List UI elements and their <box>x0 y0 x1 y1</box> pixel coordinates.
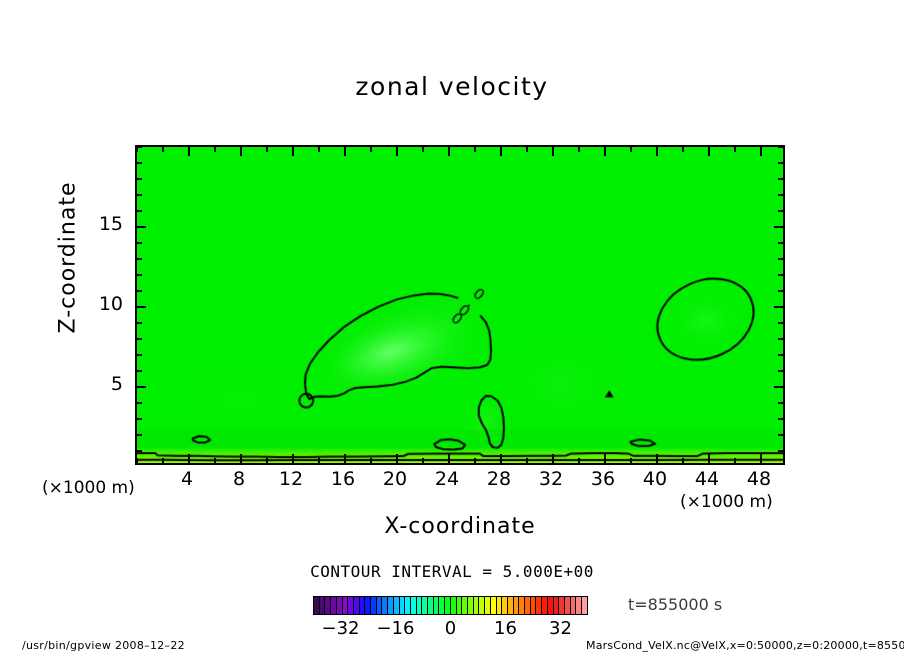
x-tick-top <box>682 147 684 152</box>
y-tick-right <box>778 418 783 420</box>
colorbar-tick-label: 16 <box>476 618 536 639</box>
x-tick <box>344 454 346 463</box>
x-tick <box>188 454 190 463</box>
x-tick <box>760 454 762 463</box>
x-tick <box>474 458 476 463</box>
y-tick <box>137 386 146 388</box>
x-tick <box>240 454 242 463</box>
x-tick-top <box>422 147 424 152</box>
x-axis-title: X-coordinate <box>135 514 785 539</box>
colorbar-swatch-47 <box>582 597 587 614</box>
x-tick-label: 28 <box>469 468 529 490</box>
x-tick-top <box>214 147 216 152</box>
x-tick <box>526 458 528 463</box>
x-tick-label: 24 <box>417 468 477 490</box>
x-tick-top <box>318 147 320 152</box>
x-tick <box>396 454 398 463</box>
x-tick <box>422 458 424 463</box>
y-axis-title: Z-coordinate <box>56 128 81 388</box>
y-tick-right <box>778 322 783 324</box>
x-tick-top <box>474 147 476 152</box>
x-tick <box>578 458 580 463</box>
x-tick <box>448 454 450 463</box>
x-tick-top <box>188 147 190 156</box>
y-tick <box>137 338 142 340</box>
y-tick <box>137 194 142 196</box>
colorbar-tick-label: −16 <box>366 618 426 639</box>
x-tick-top <box>266 147 268 152</box>
y-tick <box>137 162 142 164</box>
x-tick-label: 20 <box>365 468 425 490</box>
x-tick-label: 48 <box>729 468 789 490</box>
y-tick-right <box>774 226 783 228</box>
x-tick-top <box>734 147 736 152</box>
x-tick <box>656 454 658 463</box>
y-tick <box>137 290 142 292</box>
x-tick-label: 36 <box>573 468 633 490</box>
y-tick-right <box>778 210 783 212</box>
y-tick <box>137 210 142 212</box>
x-tick-label: 8 <box>209 468 269 490</box>
x-tick-top <box>344 147 346 156</box>
x-tick-top <box>656 147 658 156</box>
x-tick <box>552 454 554 463</box>
x-unit-left: (×1000 m) <box>42 478 135 498</box>
y-tick <box>137 258 142 260</box>
x-tick-label: 40 <box>625 468 685 490</box>
y-tick-label: 5 <box>75 373 123 395</box>
y-tick-right <box>778 242 783 244</box>
x-tick <box>604 454 606 463</box>
footer-dataset: MarsCond_VelX.nc@VelX,x=0:50000,z=0:2000… <box>586 639 904 652</box>
y-tick-right <box>778 146 783 148</box>
y-tick-right <box>778 338 783 340</box>
colorbar-tick-label: 32 <box>531 618 591 639</box>
contour-plot-area[interactable] <box>135 145 785 465</box>
colorbar[interactable] <box>313 596 588 615</box>
y-tick <box>137 354 142 356</box>
page-title: zonal velocity <box>0 72 904 101</box>
x-tick <box>734 458 736 463</box>
y-tick <box>137 306 146 308</box>
x-tick <box>630 458 632 463</box>
x-unit-right: (×1000 m) <box>680 492 773 512</box>
y-tick <box>137 322 142 324</box>
y-tick-right <box>778 258 783 260</box>
x-tick-label: 16 <box>313 468 373 490</box>
x-tick-top <box>448 147 450 156</box>
x-tick <box>292 454 294 463</box>
y-tick-right <box>778 178 783 180</box>
y-tick <box>137 418 142 420</box>
y-tick-label: 10 <box>75 293 123 315</box>
x-tick <box>214 458 216 463</box>
x-tick-top <box>526 147 528 152</box>
time-label: t=855000 s <box>628 595 722 614</box>
x-tick <box>682 458 684 463</box>
x-tick <box>318 458 320 463</box>
y-tick-right <box>778 162 783 164</box>
y-tick <box>137 242 142 244</box>
x-tick-top <box>578 147 580 152</box>
x-tick-top <box>500 147 502 156</box>
y-tick <box>137 450 142 452</box>
y-tick <box>137 402 142 404</box>
colorbar-tick-label: 0 <box>421 618 481 639</box>
x-tick-top <box>370 147 372 152</box>
y-tick-right <box>774 306 783 308</box>
x-tick-label: 44 <box>677 468 737 490</box>
y-tick-right <box>778 450 783 452</box>
x-tick-top <box>604 147 606 156</box>
y-tick <box>137 226 146 228</box>
footer-command: /usr/bin/gpview 2008–12–22 <box>22 639 185 652</box>
y-tick <box>137 434 142 436</box>
x-tick <box>266 458 268 463</box>
x-tick <box>500 454 502 463</box>
y-tick-right <box>778 370 783 372</box>
y-tick <box>137 370 142 372</box>
y-tick-right <box>774 386 783 388</box>
x-tick-top <box>760 147 762 156</box>
x-tick-top <box>630 147 632 152</box>
y-tick <box>137 178 142 180</box>
contour-interval-text: CONTOUR INTERVAL = 5.000E+00 <box>0 562 904 581</box>
x-tick-top <box>162 147 164 152</box>
y-tick-right <box>778 194 783 196</box>
y-tick-right <box>778 290 783 292</box>
y-tick-label: 15 <box>75 213 123 235</box>
x-tick-top <box>396 147 398 156</box>
colorbar-tick-label: −32 <box>311 618 371 639</box>
x-tick-top <box>292 147 294 156</box>
x-tick <box>136 458 138 463</box>
x-tick-top <box>552 147 554 156</box>
x-tick-label: 12 <box>261 468 321 490</box>
y-tick-right <box>778 354 783 356</box>
x-tick <box>162 458 164 463</box>
y-tick <box>137 274 142 276</box>
x-tick-top <box>708 147 710 156</box>
y-tick-right <box>778 402 783 404</box>
x-tick <box>708 454 710 463</box>
y-tick-right <box>778 434 783 436</box>
y-tick <box>137 146 142 148</box>
x-tick-label: 4 <box>157 468 217 490</box>
x-tick <box>370 458 372 463</box>
contour-field-canvas <box>137 147 783 463</box>
x-tick-top <box>240 147 242 156</box>
x-tick-label: 32 <box>521 468 581 490</box>
y-tick-right <box>778 274 783 276</box>
